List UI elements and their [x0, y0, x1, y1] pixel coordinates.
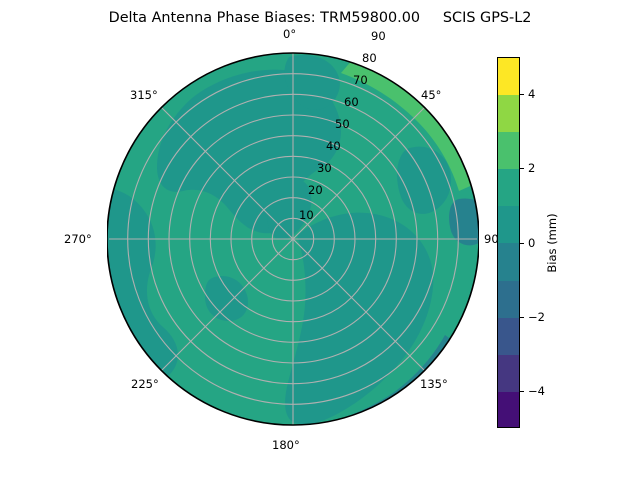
azimuth-tick-135: 135°	[420, 377, 448, 391]
colorbar-axis-label: Bias (mm)	[545, 213, 559, 272]
colorbar-ticklabel-m2: −2	[528, 310, 545, 324]
radial-tick-60: 60	[344, 95, 359, 109]
colorbar-band-3-to-4	[498, 95, 519, 132]
radial-tick-40: 40	[326, 139, 341, 153]
colorbar[interactable]: 4 2 0 −2 −4	[497, 57, 520, 428]
azimuth-tick-180: 180°	[272, 438, 300, 452]
azimuth-tick-0: 0°	[283, 27, 296, 41]
radial-tick-20: 20	[308, 183, 323, 197]
colorbar-band-m2-to-m1	[498, 281, 519, 318]
azimuth-tick-270: 270°	[64, 232, 92, 246]
polar-plot-svg	[107, 51, 479, 427]
colorbar-band-m4-to-m3	[498, 355, 519, 392]
polar-plot-axes[interactable]: 10 20 30 40 50 60 70 80 90	[107, 51, 479, 427]
colorbar-band-1-to-2	[498, 169, 519, 206]
radial-tick-50: 50	[335, 117, 350, 131]
colorbar-ticklabel-4: 4	[528, 87, 535, 101]
radial-tick-90: 90	[371, 29, 386, 43]
colorbar-band-4-to-5	[498, 58, 519, 95]
colorbar-tickmark-0	[520, 243, 524, 244]
azimuth-tick-225: 225°	[131, 377, 159, 391]
colorbar-band-2-to-3	[498, 132, 519, 169]
azimuth-tick-45: 45°	[421, 88, 441, 102]
colorbar-tickmark-m2	[520, 317, 524, 318]
colorbar-ticklabel-2: 2	[528, 161, 535, 175]
colorbar-ticklabel-0: 0	[528, 236, 535, 250]
radial-tick-80: 80	[362, 51, 377, 65]
colorbar-ticklabel-m4: −4	[528, 384, 545, 398]
colorbar-gradient	[497, 57, 520, 428]
radial-tick-10: 10	[299, 208, 314, 222]
colorbar-band-m5-to-m4	[498, 392, 519, 428]
colorbar-band-0-to-1	[498, 206, 519, 243]
radial-tick-30: 30	[317, 161, 332, 175]
colorbar-tickmark-m4	[520, 391, 524, 392]
radial-tick-70: 70	[353, 73, 368, 87]
page-title: Delta Antenna Phase Biases: TRM59800.00 …	[0, 10, 640, 26]
figure-canvas: Delta Antenna Phase Biases: TRM59800.00 …	[0, 0, 640, 480]
colorbar-tickmark-4	[520, 94, 524, 95]
colorbar-band-m1-to-0	[498, 243, 519, 280]
colorbar-band-m3-to-m2	[498, 318, 519, 355]
azimuth-tick-315: 315°	[130, 88, 158, 102]
colorbar-tickmark-2	[520, 168, 524, 169]
